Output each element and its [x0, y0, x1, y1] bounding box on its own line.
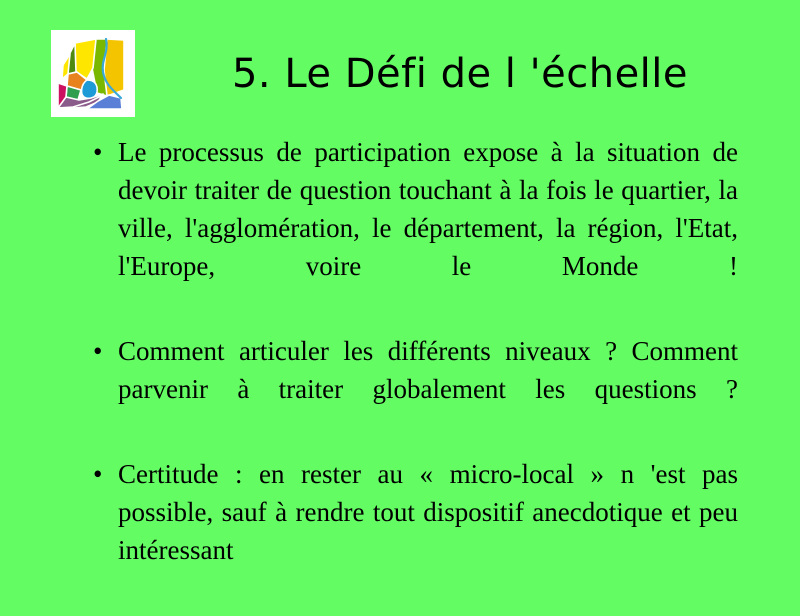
- abstract-map-logo-graphic: [51, 30, 135, 117]
- slide-title-text: 5. Le Défi de l 'échelle: [232, 53, 688, 95]
- bullet-marker-icon: •: [88, 133, 118, 171]
- bullet-marker-icon: •: [88, 332, 118, 370]
- presentation-slide: 5. Le Défi de l 'échelle • Le processus …: [0, 0, 800, 600]
- bullet-text: Le processus de participation expose à l…: [118, 133, 738, 323]
- list-item: • Comment articuler les différents nivea…: [88, 332, 738, 446]
- slide-body: • Le processus de participation expose à…: [88, 133, 738, 616]
- bullet-marker-icon: •: [88, 455, 118, 493]
- bullet-text: Certitude : en rester au « micro-local »…: [118, 455, 738, 607]
- bullet-text: Comment articuler les différents niveaux…: [118, 332, 738, 446]
- list-item: • Certitude : en rester au « micro-local…: [88, 455, 738, 607]
- list-item: • Le processus de participation expose à…: [88, 133, 738, 323]
- abstract-map-logo: [51, 30, 135, 117]
- slide-title: 5. Le Défi de l 'échelle: [150, 38, 770, 110]
